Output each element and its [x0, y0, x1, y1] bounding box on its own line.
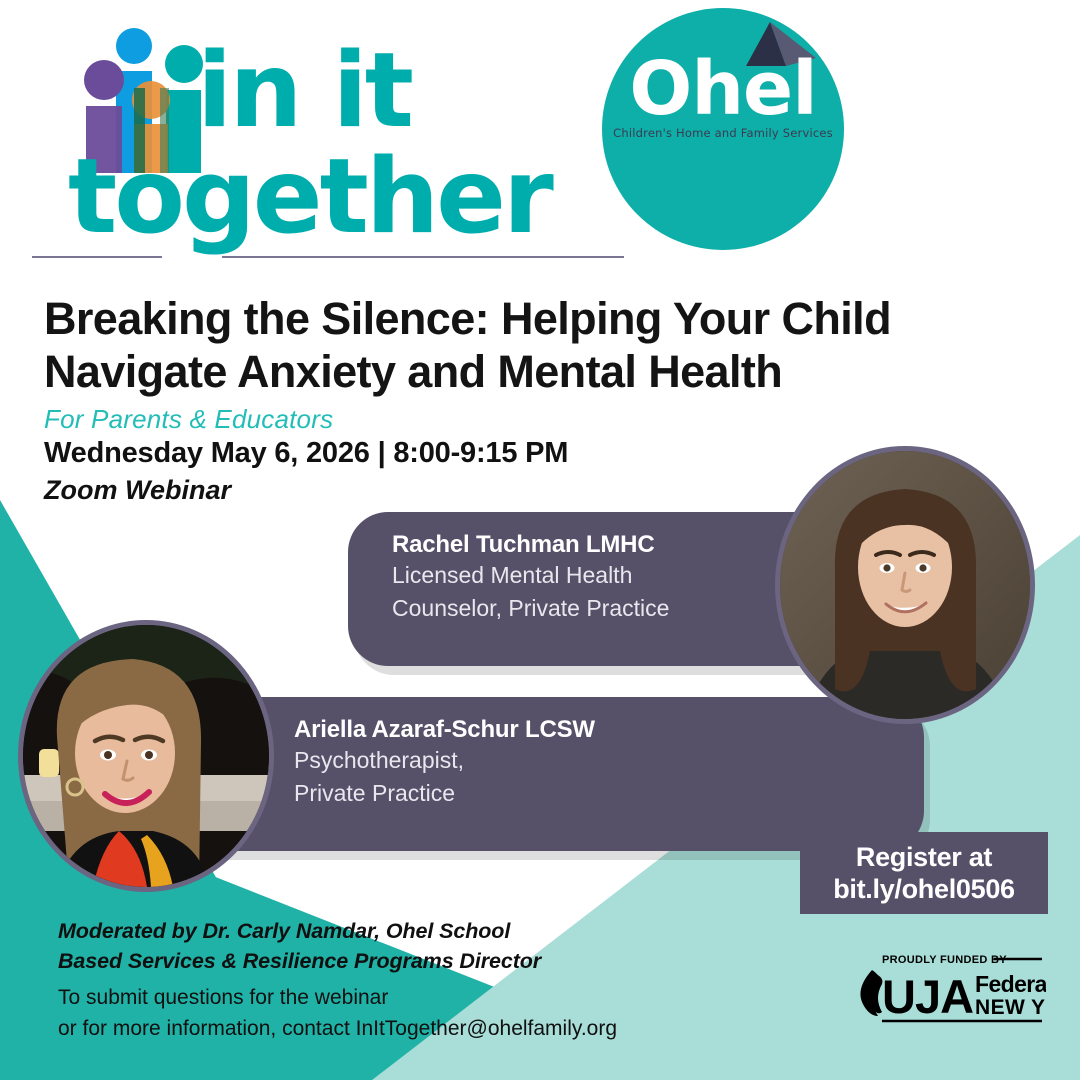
register-cta[interactable]: Register at bit.ly/ohel0506 — [800, 832, 1048, 914]
headline-subtitle: For Parents & Educators — [44, 404, 1034, 435]
in-it-together-logo: in it together — [62, 18, 642, 258]
webinar-flyer: in it together Ohel Children's Home and … — [0, 0, 1080, 1080]
ohel-tagline: Children's Home and Family Services — [602, 126, 844, 140]
ohel-wordmark: Ohel — [602, 52, 844, 126]
event-date-time: Wednesday May 6, 2026 | 8:00-9:15 PM — [44, 437, 568, 470]
page-title: Breaking the Silence: Helping Your Child… — [44, 292, 1034, 398]
ariella-headshot-illustration — [23, 625, 269, 887]
title-line-1: Breaking the Silence: Helping Your Child — [44, 293, 891, 344]
uja-newyork-line: NEW YORK — [975, 996, 1046, 1019]
event-platform: Zoom Webinar — [44, 475, 568, 506]
moderator-line-2: Based Services & Resilience Programs Dir… — [58, 946, 541, 976]
brand-line-1: in it — [197, 40, 411, 143]
title-line-2: Navigate Anxiety and Mental Health — [44, 346, 782, 397]
uja-logo-mark: PROUDLY FUNDED BY UJA Federation NEW YOR… — [856, 950, 1046, 1026]
speaker-role-line-1: Psychotherapist, — [294, 744, 898, 777]
uja-kicker: PROUDLY FUNDED BY — [882, 954, 1007, 966]
speaker-role-line-2: Private Practice — [294, 777, 898, 810]
speaker-role-line-1: Licensed Mental Health — [392, 559, 832, 592]
register-label: Register at — [856, 841, 992, 873]
contact-text: To submit questions for the webinar or f… — [58, 982, 617, 1044]
avatar-rachel-tuchman — [775, 446, 1035, 724]
register-url[interactable]: bit.ly/ohel0506 — [833, 873, 1015, 905]
headline-block: Breaking the Silence: Helping Your Child… — [44, 292, 1034, 435]
contact-line-1: To submit questions for the webinar — [58, 982, 617, 1013]
rachel-headshot-illustration — [780, 451, 1030, 719]
moderator-line-1: Moderated by Dr. Carly Namdar, Ohel Scho… — [58, 916, 541, 946]
brand-wordmark: in it together — [62, 18, 642, 258]
brand-line-2: together — [68, 146, 551, 249]
speaker-role-line-2: Counselor, Private Practice — [392, 592, 832, 625]
uja-name: UJA — [882, 970, 973, 1023]
speaker-name: Rachel Tuchman LMHC — [392, 531, 832, 559]
contact-line-2: or for more information, contact InItTog… — [58, 1013, 617, 1044]
uja-federation-line: Federation — [975, 971, 1046, 997]
moderator-text: Moderated by Dr. Carly Namdar, Ohel Scho… — [58, 916, 541, 976]
flame-icon — [860, 970, 882, 1016]
speaker-name: Ariella Azaraf-Schur LCSW — [294, 716, 898, 744]
event-datetime-block: Wednesday May 6, 2026 | 8:00-9:15 PM Zoo… — [44, 437, 568, 506]
ohel-logo: Ohel Children's Home and Family Services — [602, 8, 844, 250]
avatar-ariella-azaraf-schur — [18, 620, 274, 892]
uja-federation-logo: PROUDLY FUNDED BY UJA Federation NEW YOR… — [856, 950, 1046, 1026]
